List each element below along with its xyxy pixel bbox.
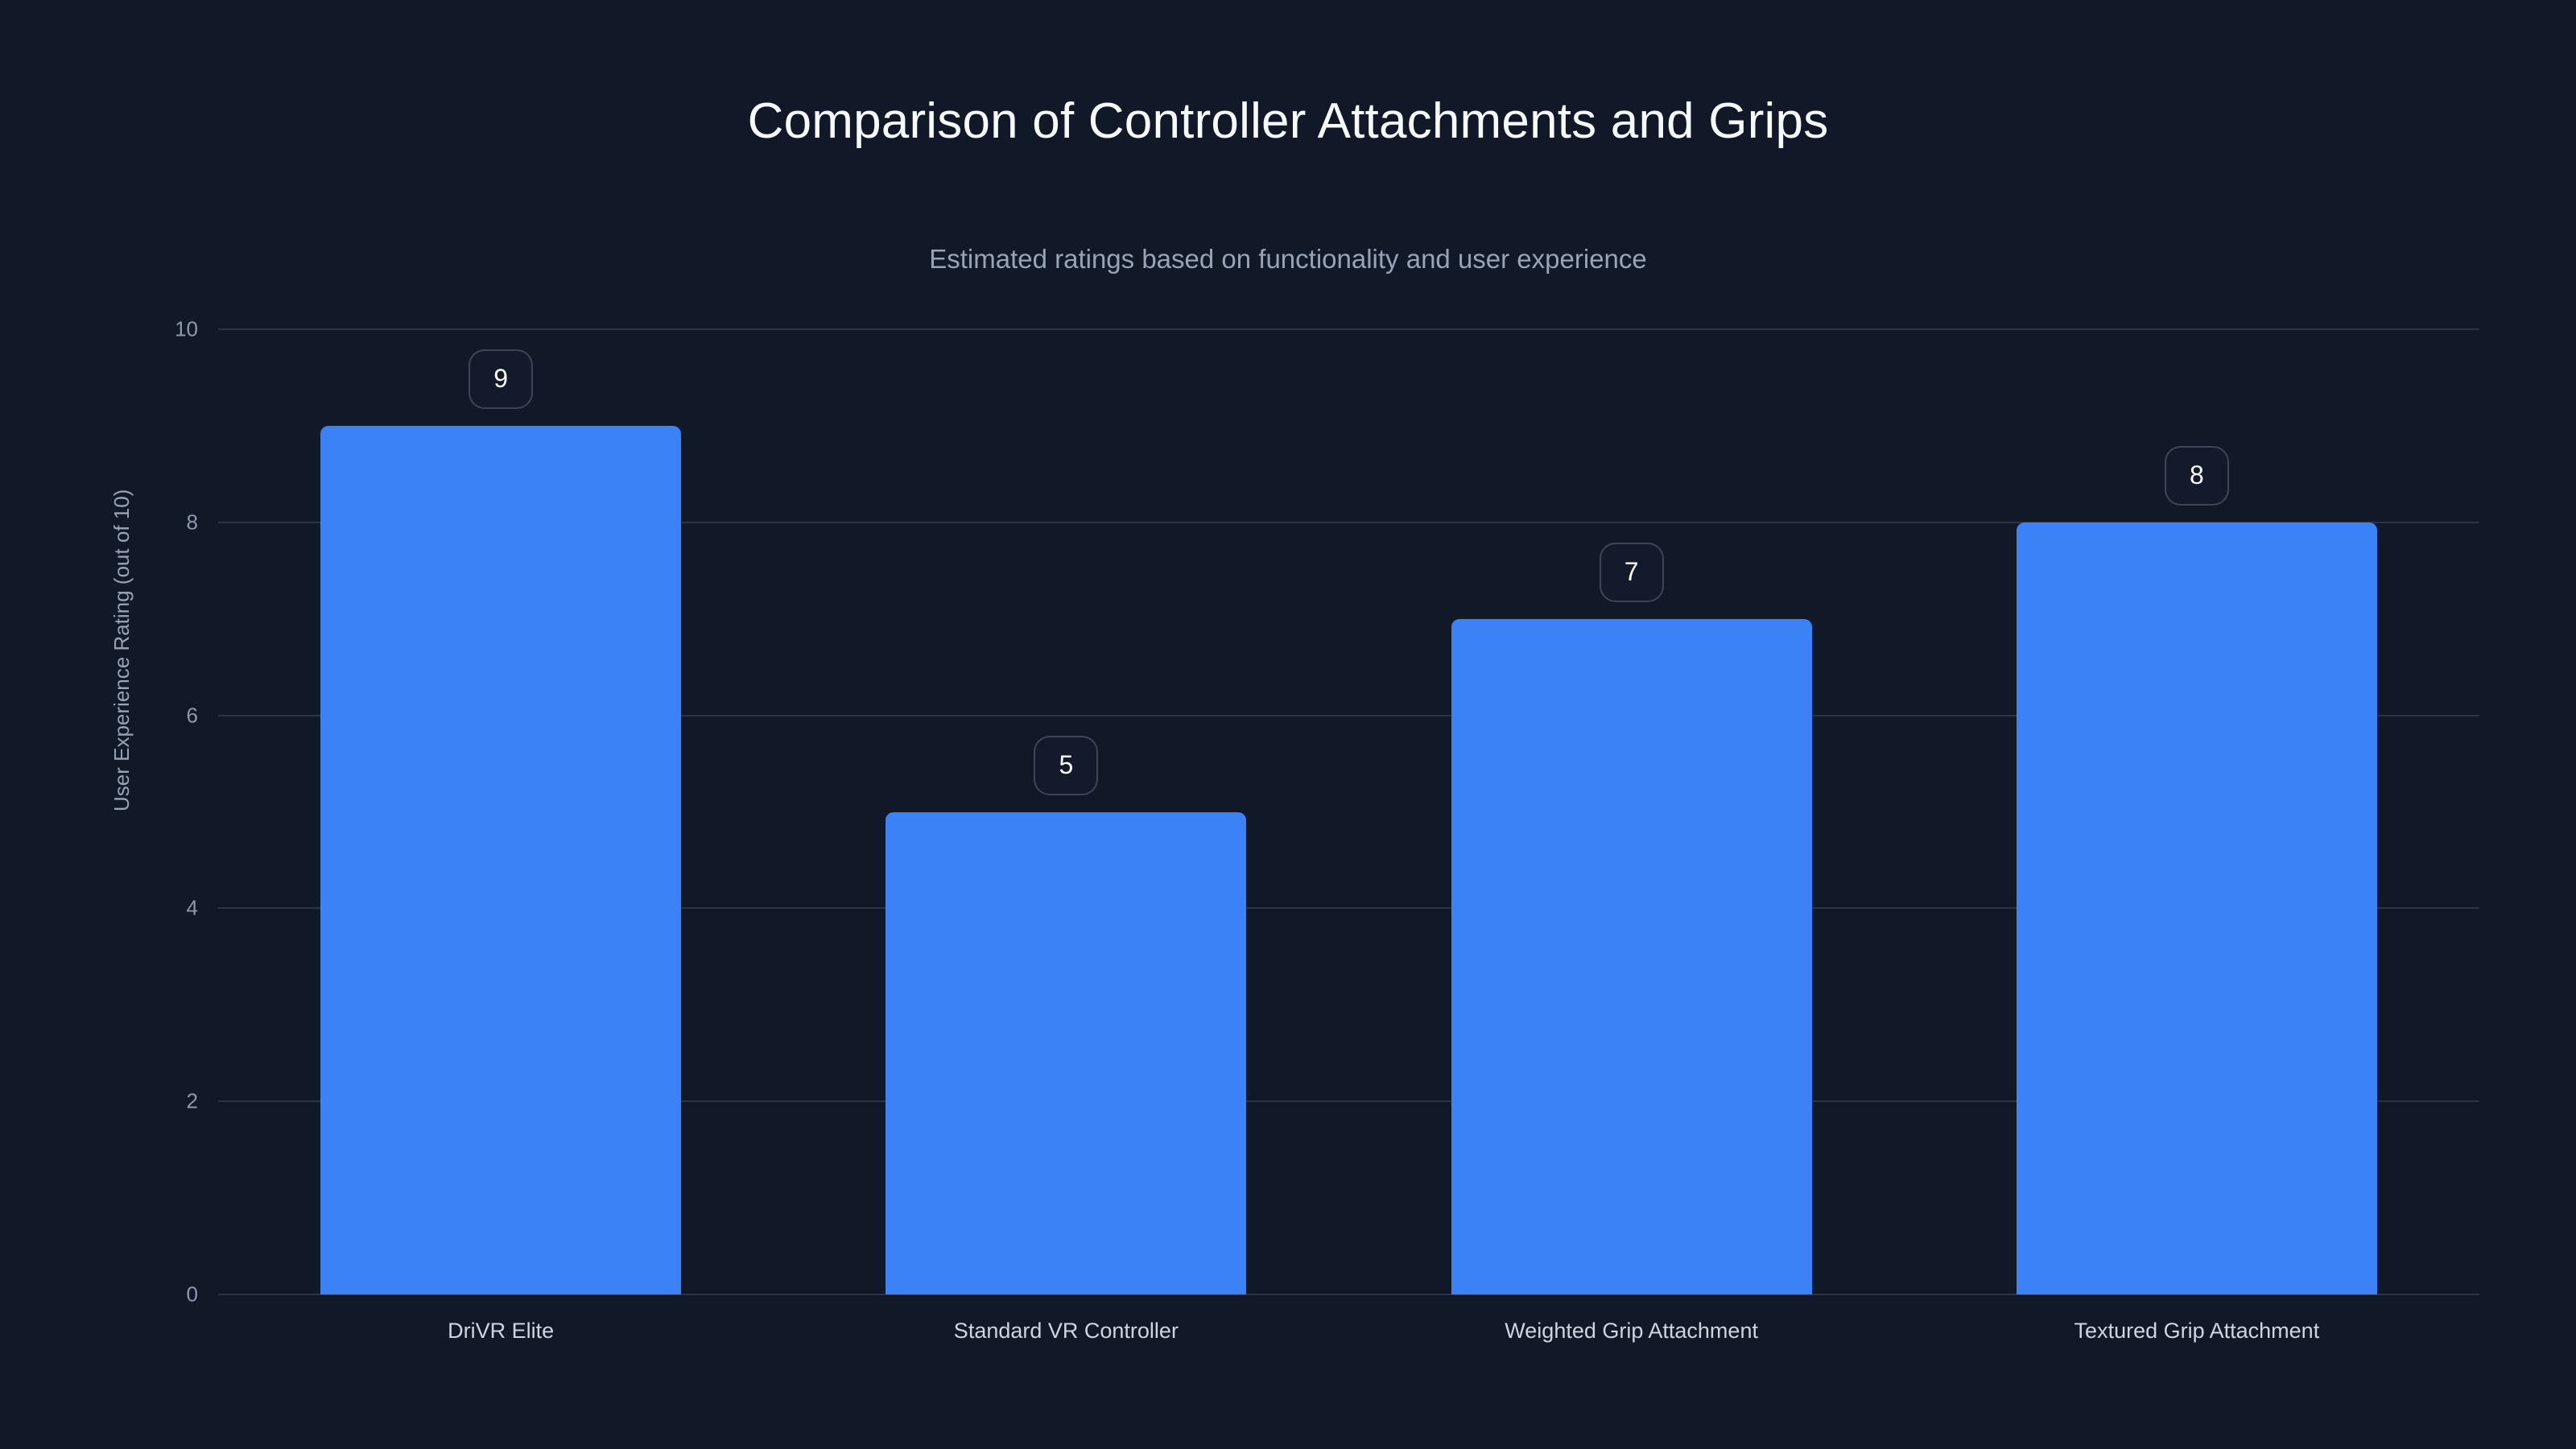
bar-value-badge: 8 bbox=[2165, 446, 2229, 506]
x-axis-category-label: Weighted Grip Attachment bbox=[1505, 1319, 1758, 1344]
bar-value-badge: 9 bbox=[469, 349, 533, 409]
chart-subtitle: Estimated ratings based on functionality… bbox=[0, 244, 2576, 275]
plot-area bbox=[218, 329, 2479, 1294]
x-axis-category-label: Standard VR Controller bbox=[954, 1319, 1179, 1344]
gridline bbox=[218, 328, 2479, 330]
bar[interactable] bbox=[1451, 619, 1812, 1294]
y-axis-label: User Experience Rating (out of 10) bbox=[109, 489, 134, 811]
y-axis-tick-label: 10 bbox=[101, 317, 198, 342]
bar[interactable] bbox=[2017, 522, 2377, 1294]
bar[interactable] bbox=[320, 426, 681, 1294]
y-axis-tick-label: 6 bbox=[101, 703, 198, 728]
x-axis-category-label: Textured Grip Attachment bbox=[2074, 1319, 2320, 1344]
y-axis-tick-label: 0 bbox=[101, 1282, 198, 1307]
x-axis-category-label: DriVR Elite bbox=[448, 1319, 554, 1344]
bar-value-badge: 5 bbox=[1034, 736, 1098, 795]
y-axis-tick-label: 8 bbox=[101, 510, 198, 535]
y-axis-tick-label: 2 bbox=[101, 1089, 198, 1114]
chart-title: Comparison of Controller Attachments and… bbox=[0, 93, 2576, 150]
y-axis-tick-label: 4 bbox=[101, 896, 198, 921]
bar-chart-figure: Comparison of Controller Attachments and… bbox=[0, 0, 2576, 1449]
bar-value-badge: 7 bbox=[1600, 543, 1664, 602]
bar[interactable] bbox=[885, 812, 1246, 1295]
